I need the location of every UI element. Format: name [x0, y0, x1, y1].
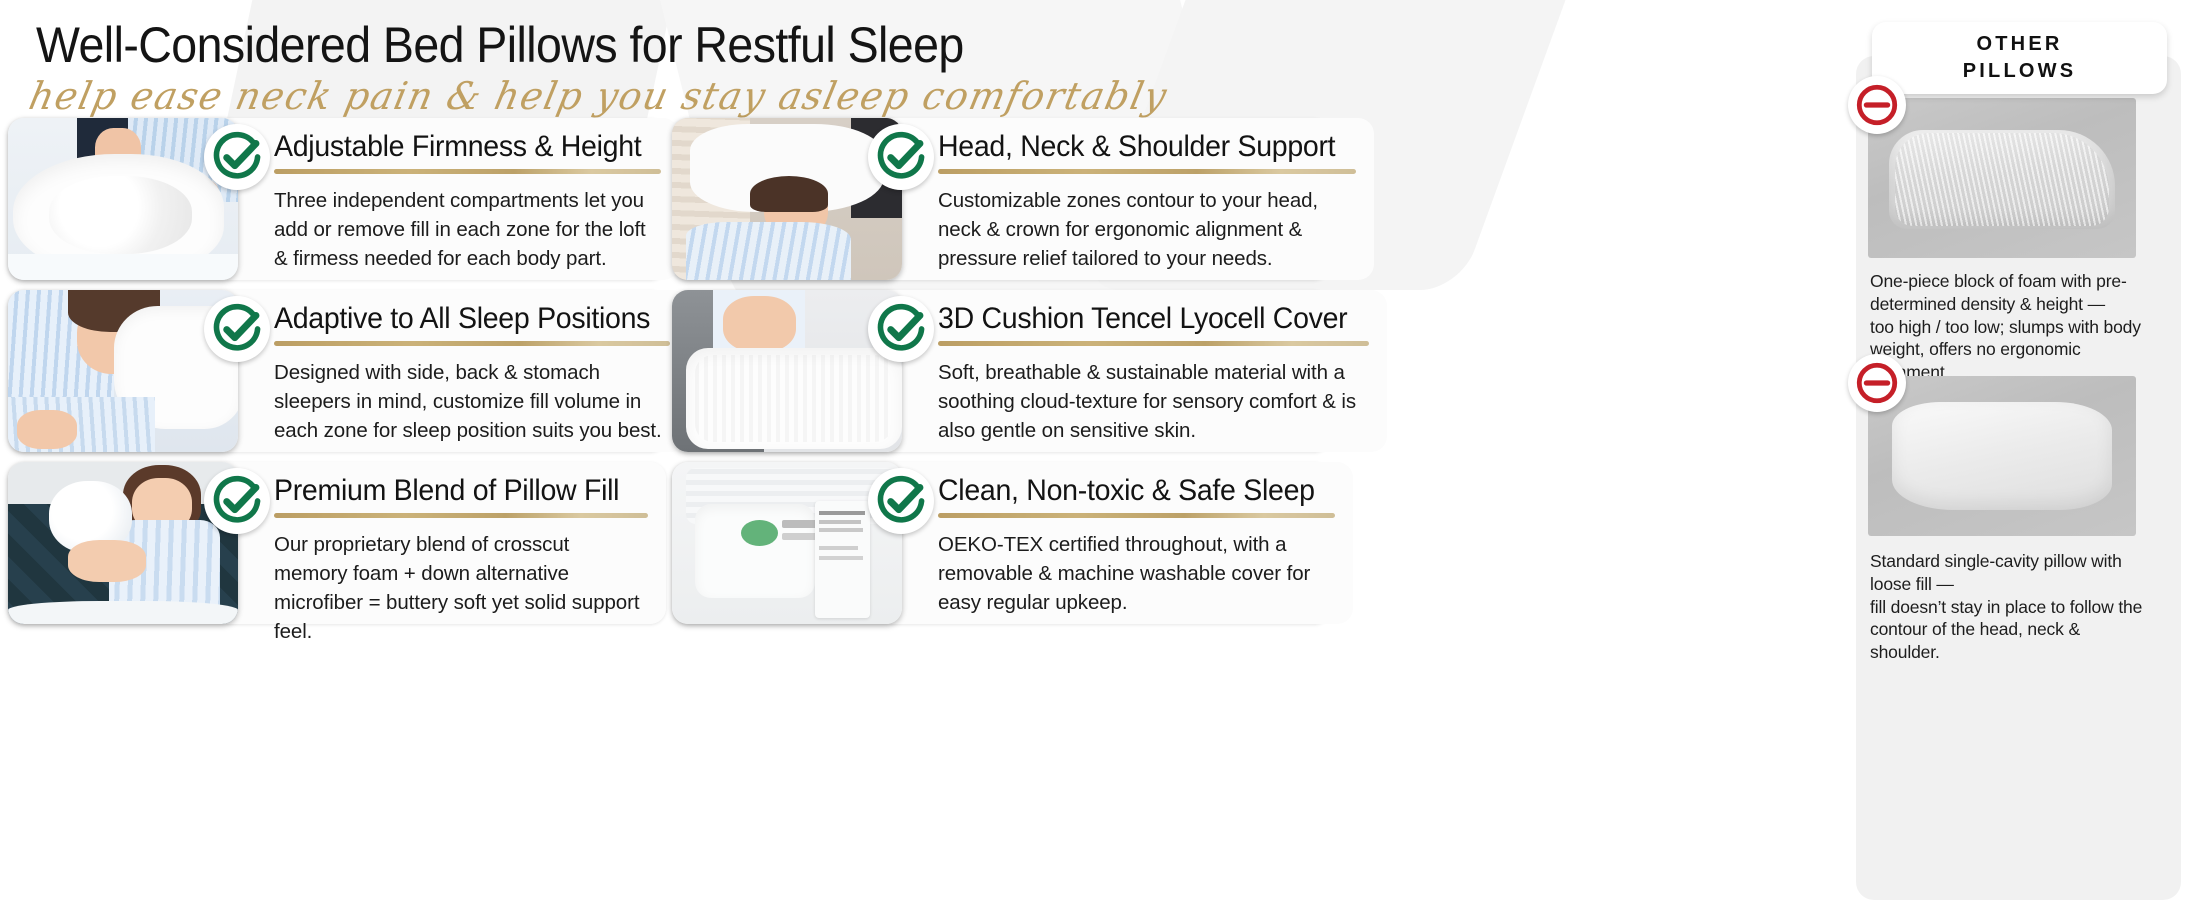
other-pillows-sidebar: OTHER PILLOWS One-piece block of foam wi…: [1840, 22, 2195, 900]
feature-card: 3D Cushion Tencel Lyocell Cover Soft, br…: [672, 290, 1330, 452]
feature-image: [8, 290, 238, 452]
other-pillow-description: One-piece block of foam with pre-determi…: [1870, 270, 2150, 384]
feature-body: 3D Cushion Tencel Lyocell Cover Soft, br…: [886, 290, 1387, 452]
feature-description: Designed with side, back & stomach sleep…: [274, 358, 670, 445]
feature-image: [8, 462, 238, 624]
other-pillow-image: [1868, 98, 2136, 258]
check-circle-icon: [875, 303, 927, 355]
feature-card: Adjustable Firmness & Height Three indep…: [8, 118, 666, 280]
feature-title: 3D Cushion Tencel Lyocell Cover: [938, 302, 1347, 337]
feature-card: Adaptive to All Sleep Positions Designed…: [8, 290, 666, 452]
promo-infographic: Well-Considered Bed Pillows for Restful …: [0, 0, 2195, 900]
feature-image: [672, 118, 902, 280]
check-circle-icon: [211, 303, 263, 355]
check-badge: [204, 124, 270, 190]
minus-circle-icon: [1854, 360, 1900, 406]
feature-card: Premium Blend of Pillow Fill Our proprie…: [8, 462, 666, 624]
feature-grid: Adjustable Firmness & Height Three indep…: [0, 118, 1840, 900]
feature-title: Adaptive to All Sleep Positions: [274, 302, 650, 337]
feature-image: [672, 462, 902, 624]
check-badge: [868, 124, 934, 190]
title-underline: [938, 513, 1335, 518]
check-circle-icon: [211, 475, 263, 527]
feature-title: Premium Blend of Pillow Fill: [274, 474, 629, 509]
check-circle-icon: [211, 131, 263, 183]
feature-image: [672, 290, 902, 452]
other-pillows-line2: PILLOWS: [1963, 58, 2077, 85]
feature-card: Head, Neck & Shoulder Support Customizab…: [672, 118, 1330, 280]
title-underline: [938, 169, 1356, 174]
feature-description: Three independent compartments let you a…: [274, 186, 661, 273]
check-circle-icon: [875, 475, 927, 527]
minus-circle-icon: [1854, 82, 1900, 128]
feature-body: Head, Neck & Shoulder Support Customizab…: [886, 118, 1374, 280]
title-underline: [938, 341, 1369, 346]
feature-card: Clean, Non-toxic & Safe Sleep OEKO-TEX c…: [672, 462, 1330, 624]
feature-description: OEKO-TEX certified throughout, with a re…: [938, 530, 1335, 617]
page-title: Well-Considered Bed Pillows for Restful …: [36, 16, 964, 74]
other-pillow-description: Standard single-cavity pillow with loose…: [1870, 550, 2150, 664]
deny-badge: [1848, 76, 1906, 134]
title-underline: [274, 169, 661, 174]
feature-title: Clean, Non-toxic & Safe Sleep: [938, 474, 1315, 509]
check-badge: [204, 296, 270, 362]
header: Well-Considered Bed Pillows for Restful …: [0, 0, 1840, 118]
feature-body: Clean, Non-toxic & Safe Sleep OEKO-TEX c…: [886, 462, 1353, 624]
check-circle-icon: [875, 131, 927, 183]
check-badge: [868, 468, 934, 534]
feature-description: Customizable zones contour to your head,…: [938, 186, 1356, 273]
other-pillow-image: [1868, 376, 2136, 536]
feature-image: [8, 118, 238, 280]
title-underline: [274, 513, 648, 518]
page-subtitle: help ease neck pain & help you stay asle…: [25, 74, 1171, 118]
feature-body: Adjustable Firmness & Height Three indep…: [222, 118, 679, 280]
feature-body: Adaptive to All Sleep Positions Designed…: [222, 290, 688, 452]
title-underline: [274, 341, 670, 346]
feature-title: Head, Neck & Shoulder Support: [938, 130, 1335, 165]
deny-badge: [1848, 354, 1906, 412]
feature-description: Soft, breathable & sustainable material …: [938, 358, 1369, 445]
check-badge: [204, 468, 270, 534]
other-pillows-header: OTHER PILLOWS: [1872, 22, 2167, 94]
other-pillows-line1: OTHER: [1977, 31, 2063, 58]
feature-title: Adjustable Firmness & Height: [274, 130, 641, 165]
check-badge: [868, 296, 934, 362]
feature-body: Premium Blend of Pillow Fill Our proprie…: [222, 462, 666, 624]
feature-description: Our proprietary blend of crosscut memory…: [274, 530, 648, 646]
